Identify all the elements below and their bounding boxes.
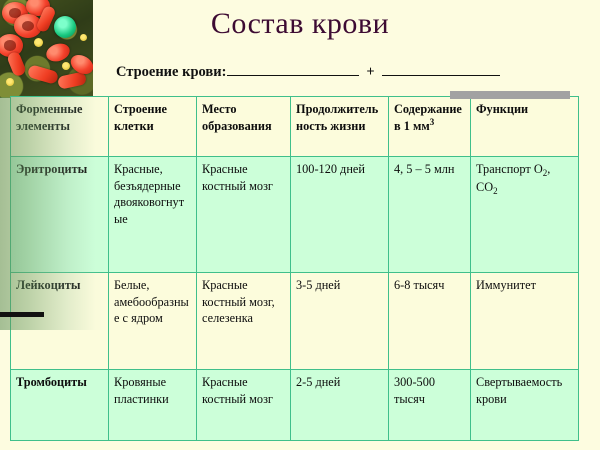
- cell-structure: Кровяные пластинки: [109, 370, 197, 441]
- function-text-prefix: Транспорт O: [476, 162, 543, 176]
- cell-place: Красные костный мозг: [197, 370, 291, 441]
- cell-lifespan: 100-120 дней: [291, 157, 389, 273]
- page-title: Состав крови: [0, 5, 600, 43]
- plus-sign: +: [366, 64, 374, 81]
- oxygen-subscript: 2: [543, 168, 548, 178]
- structure-label: Строение крови:: [116, 64, 226, 81]
- column-header-structure: Строение клетки: [109, 97, 197, 157]
- cell-count: 300-500 тысяч: [389, 370, 471, 441]
- slide-canvas: Состав крови Строение крови: + Форменные…: [0, 0, 600, 450]
- cell-function: Свертываемость крови: [471, 370, 579, 441]
- cell-count: 4, 5 – 5 млн: [389, 157, 471, 273]
- cell-count: 6-8 тысяч: [389, 273, 471, 370]
- gray-bar-overlay: [450, 91, 570, 99]
- table-row: Тромбоциты Кровяные пластинки Красные ко…: [11, 370, 579, 441]
- cell-element: Эритроциты: [11, 157, 109, 273]
- blood-composition-table: Форменные элементы Строение клетки Место…: [10, 96, 579, 441]
- cell-function: Иммунитет: [471, 273, 579, 370]
- cell-function: Транспорт O2, CO2: [471, 157, 579, 273]
- cell-lifespan: 2-5 дней: [291, 370, 389, 441]
- column-header-place: Место образования: [197, 97, 291, 157]
- column-header-elements: Форменные элементы: [11, 97, 109, 157]
- yellow-particle-icon: [62, 62, 70, 70]
- column-header-count: Содержание в 1 мм3: [389, 97, 471, 157]
- cubic-superscript: 3: [430, 117, 435, 127]
- structure-blank-1[interactable]: [227, 62, 359, 76]
- cell-structure: Белые, амебообразные с ядром: [109, 273, 197, 370]
- structure-blank-2[interactable]: [382, 62, 500, 76]
- cell-structure: Красные, безъядерные двояковогнутые: [109, 157, 197, 273]
- cell-place: Красные костный мозг, селезенка: [197, 273, 291, 370]
- yellow-particle-icon: [6, 78, 14, 86]
- carbon-dioxide-subscript: 2: [493, 186, 498, 196]
- cell-place: Красные костный мозг: [197, 157, 291, 273]
- table-header-row: Форменные элементы Строение клетки Место…: [11, 97, 579, 157]
- table-row: Лейкоциты Белые, амебообразные с ядром К…: [11, 273, 579, 370]
- column-header-count-text: Содержание в 1 мм: [394, 102, 462, 133]
- black-underline-mark: [0, 312, 44, 317]
- cell-lifespan: 3-5 дней: [291, 273, 389, 370]
- cell-element: Тромбоциты: [11, 370, 109, 441]
- column-header-lifespan: Продолжительность жизни: [291, 97, 389, 157]
- structure-fill-in-line: Строение крови: +: [116, 62, 500, 81]
- column-header-functions: Функции: [471, 97, 579, 157]
- cell-element: Лейкоциты: [11, 273, 109, 370]
- table-row: Эритроциты Красные, безъядерные двояково…: [11, 157, 579, 273]
